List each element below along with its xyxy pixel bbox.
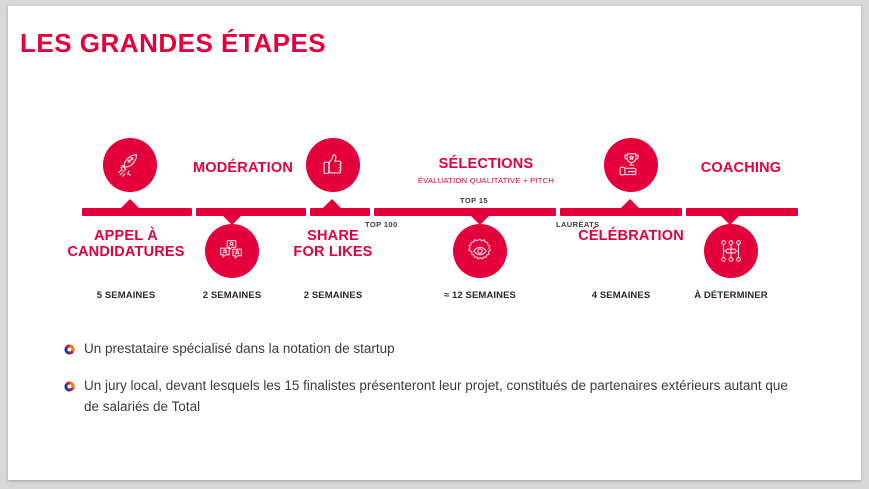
timeline-bar-segment	[310, 208, 370, 216]
total-logo-bullet-icon	[64, 379, 75, 390]
step-icon-circle-5[interactable]	[604, 138, 658, 192]
step-duration-1: 5 SEMAINES	[66, 290, 186, 301]
step-label-2: MODÉRATION	[168, 160, 318, 176]
list-item: Un prestataire spécialisé dans la notati…	[64, 338, 804, 359]
step-duration-4: ≈ 12 SEMAINES	[420, 290, 540, 301]
step-subtitle-4: ÉVALUATION QUALITATIVE + PITCH	[396, 176, 576, 185]
step-icon-circle-6[interactable]	[704, 224, 758, 278]
timeline-bar-segment	[82, 208, 192, 216]
step-icon-circle-2[interactable]	[205, 224, 259, 278]
speech-bubbles-people-icon	[217, 236, 247, 266]
timeline-marker-top100: TOP 100	[365, 220, 398, 229]
thumbs-up-icon	[318, 150, 348, 180]
timeline-bar-segment	[196, 208, 306, 216]
step-label-1: APPEL À CANDIDATURES	[56, 228, 196, 260]
step-icon-circle-4[interactable]	[453, 224, 507, 278]
step-icon-circle-3[interactable]	[306, 138, 360, 192]
timeline-marker-top15: TOP 15	[460, 196, 488, 205]
bullet-text: Un jury local, devant lesquels les 15 fi…	[84, 375, 804, 417]
trophy-hand-icon	[616, 150, 646, 180]
timeline-marker-laureats: LAURÉATS	[556, 220, 599, 229]
timeline-bar-segment	[374, 208, 556, 216]
rocket-icon	[115, 150, 145, 180]
timeline-pointer-up	[323, 199, 341, 208]
slide-canvas: LES GRANDES ÉTAPES APPEL À C	[8, 6, 861, 480]
timeline-bar-segment	[686, 208, 798, 216]
timeline-bar-segment	[560, 208, 682, 216]
step-label-3: SHARE FOR LIKES	[273, 228, 393, 260]
timeline-diagram: APPEL À CANDIDATURES 5 SEMAINES MODÉRATI…	[8, 122, 861, 312]
page-title: LES GRANDES ÉTAPES	[20, 28, 326, 59]
bullet-text: Un prestataire spécialisé dans la notati…	[84, 338, 395, 359]
step-label-4: SÉLECTIONS	[406, 156, 566, 172]
step-duration-5: 4 SEMAINES	[561, 290, 681, 301]
network-nodes-icon	[716, 236, 746, 266]
list-item: Un jury local, devant lesquels les 15 fi…	[64, 375, 804, 417]
step-icon-circle-1[interactable]	[103, 138, 157, 192]
step-label-5: CÉLÉBRATION	[556, 228, 706, 244]
timeline-pointer-up	[121, 199, 139, 208]
step-duration-6: À DÉTERMINER	[671, 290, 791, 301]
timeline-pointer-up	[621, 199, 639, 208]
bullet-list: Un prestataire spécialisé dans la notati…	[64, 338, 804, 433]
step-duration-3: 2 SEMAINES	[273, 290, 393, 301]
eye-gear-icon	[465, 236, 495, 266]
total-logo-bullet-icon	[64, 342, 75, 353]
step-label-6: COACHING	[671, 160, 811, 176]
